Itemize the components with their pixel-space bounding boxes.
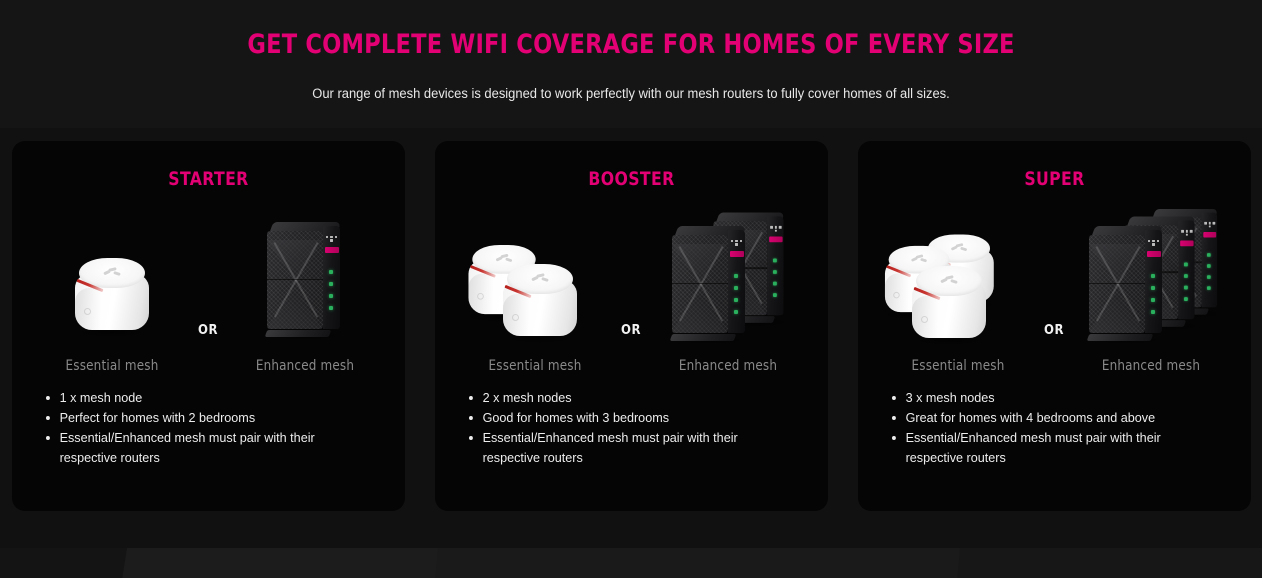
router-brand-badge [1180, 240, 1193, 246]
page-title: GET COMPLETE WIFI COVERAGE FOR HOMES OF … [44, 30, 1218, 60]
enhanced-mesh-device [672, 226, 746, 338]
node-button-icon [921, 316, 928, 323]
essential-mesh-label: Essential mesh [440, 358, 630, 374]
brand-logo-icon [103, 267, 120, 277]
brand-logo-icon [770, 226, 782, 234]
router-front-panel [672, 235, 728, 333]
brand-logo-icon [1148, 240, 1160, 248]
router-brand-badge [325, 247, 339, 253]
plan-feature-item: Perfect for homes with 2 bedrooms [46, 408, 373, 428]
essential-mesh-group: Essential mesh [12, 194, 212, 374]
plan-feature-item: 1 x mesh node [46, 388, 373, 408]
plan-cards-row: STARTEREssential meshOREnhanced mesh1 x … [0, 141, 1262, 511]
router-brand-badge [730, 251, 744, 257]
brand-logo-icon [531, 273, 548, 283]
plan-feature-item: 2 x mesh nodes [469, 388, 796, 408]
enhanced-mesh-label: Enhanced mesh [633, 358, 823, 374]
brand-logo-icon [1181, 230, 1193, 238]
brand-logo-icon [940, 275, 957, 285]
plan-feature-item: Great for homes with 4 bedrooms and abov… [892, 408, 1219, 428]
essential-mesh-group: Essential mesh [435, 194, 635, 374]
plan-feature-item: Essential/Enhanced mesh must pair with t… [469, 428, 796, 468]
router-base-foot [669, 334, 736, 341]
essential-mesh-device [73, 258, 151, 332]
device-showcase: Essential meshOREnhanced mesh [858, 194, 1251, 374]
essential-device-stage [858, 194, 1058, 342]
brand-logo-icon [326, 236, 338, 244]
node-button-icon [477, 293, 484, 300]
plan-card-title: SUPER [873, 141, 1235, 190]
device-showcase: Essential meshOREnhanced mesh [435, 194, 828, 374]
essential-device-stage [435, 194, 635, 342]
router-front-panel [267, 231, 323, 329]
essential-mesh-device [910, 266, 988, 340]
enhanced-mesh-group: Enhanced mesh [205, 194, 405, 374]
plan-feature-item: 3 x mesh nodes [892, 388, 1219, 408]
essential-device-stage [12, 194, 212, 342]
router-led-indicators [1207, 253, 1213, 297]
enhanced-mesh-device [267, 222, 341, 334]
essential-mesh-device [501, 264, 579, 338]
brand-logo-icon [495, 253, 511, 263]
plan-card-super[interactable]: SUPEREssential meshOREnhanced mesh3 x me… [858, 141, 1251, 511]
plan-card-title: BOOSTER [450, 141, 812, 190]
node-button-icon [512, 314, 519, 321]
router-center-seam [672, 283, 728, 285]
brand-logo-icon [911, 254, 927, 263]
plan-feature-item: Essential/Enhanced mesh must pair with t… [892, 428, 1219, 468]
plan-feature-list: 2 x mesh nodesGood for homes with 3 bedr… [435, 388, 828, 468]
plan-feature-item: Good for homes with 3 bedrooms [469, 408, 796, 428]
brand-logo-icon [1204, 222, 1215, 229]
node-button-icon [893, 292, 899, 298]
brand-logo-icon [731, 240, 743, 248]
enhanced-mesh-group: Enhanced mesh [1051, 194, 1251, 374]
router-led-indicators [734, 274, 740, 322]
page-root: GET COMPLETE WIFI COVERAGE FOR HOMES OF … [0, 0, 1262, 578]
enhanced-mesh-device [1089, 226, 1163, 338]
plan-feature-item: Essential/Enhanced mesh must pair with t… [46, 428, 373, 468]
plan-card-starter[interactable]: STARTEREssential meshOREnhanced mesh1 x … [12, 141, 405, 511]
plan-card-booster[interactable]: BOOSTEREssential meshOREnhanced mesh2 x … [435, 141, 828, 511]
router-led-indicators [329, 270, 335, 318]
enhanced-device-stage [1051, 194, 1251, 342]
router-brand-badge [1147, 251, 1161, 257]
plan-feature-list: 3 x mesh nodesGreat for homes with 4 bed… [858, 388, 1251, 468]
essential-mesh-group: Essential mesh [858, 194, 1058, 374]
enhanced-mesh-label: Enhanced mesh [1056, 358, 1246, 374]
page-subtitle: Our range of mesh devices is designed to… [25, 86, 1237, 101]
router-brand-badge [769, 236, 782, 242]
essential-mesh-label: Essential mesh [17, 358, 207, 374]
router-base-foot [264, 330, 331, 337]
router-center-seam [267, 279, 323, 281]
node-button-icon [84, 308, 91, 315]
page-header: GET COMPLETE WIFI COVERAGE FOR HOMES OF … [0, 0, 1262, 101]
enhanced-mesh-label: Enhanced mesh [210, 358, 400, 374]
enhanced-device-stage [628, 194, 828, 342]
router-center-seam [1089, 283, 1145, 285]
router-brand-badge [1203, 232, 1216, 238]
router-led-indicators [773, 258, 779, 304]
router-led-indicators [1151, 274, 1157, 322]
essential-mesh-label: Essential mesh [863, 358, 1053, 374]
plan-card-title: STARTER [27, 141, 389, 190]
router-front-panel [1089, 235, 1145, 333]
plan-feature-list: 1 x mesh nodePerfect for homes with 2 be… [12, 388, 405, 468]
device-showcase: Essential meshOREnhanced mesh [12, 194, 405, 374]
router-led-indicators [1184, 262, 1190, 308]
enhanced-mesh-group: Enhanced mesh [628, 194, 828, 374]
router-base-foot [1086, 334, 1153, 341]
enhanced-device-stage [205, 194, 405, 342]
